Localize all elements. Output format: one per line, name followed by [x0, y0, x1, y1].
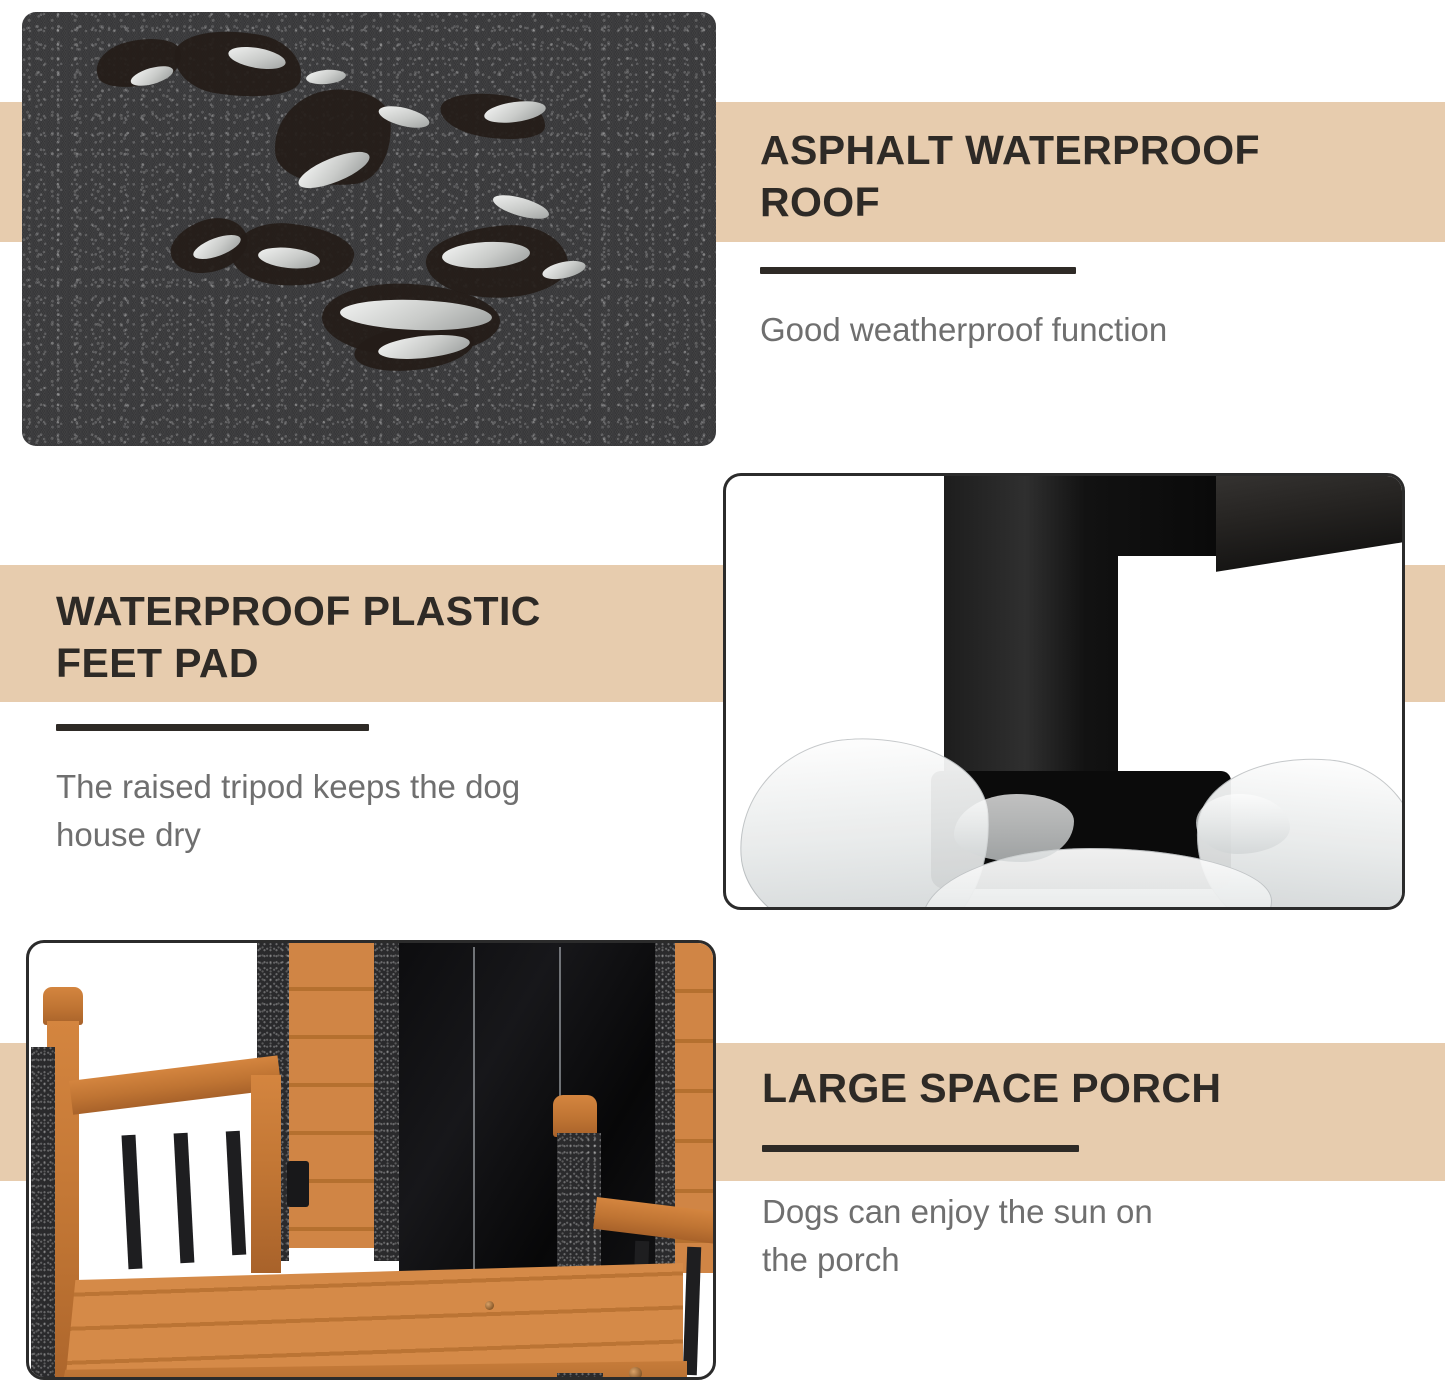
asphalt-roof-photo	[22, 12, 716, 446]
railing-side-post-left	[251, 1075, 281, 1273]
railing-top-rail-left	[69, 1055, 282, 1114]
post-notch-gap	[1118, 556, 1216, 806]
feature-body: The raised tripod keeps the dog house dr…	[56, 763, 696, 859]
feature-body: Dogs can enjoy the sun on the porch	[762, 1188, 1402, 1284]
infographic-page: ASPHALT WATERPROOF ROOF Good weatherproo…	[0, 0, 1445, 1388]
feature-text-porch: LARGE SPACE PORCH Dogs can enjoy the sun…	[762, 1062, 1402, 1284]
feature-text-feet-pad: WATERPROOF PLASTIC FEET PAD The raised t…	[56, 585, 696, 859]
railing-baluster	[683, 1247, 701, 1375]
feature-heading: WATERPROOF PLASTIC FEET PAD	[56, 585, 696, 690]
railing-baluster	[174, 1133, 195, 1264]
door-flap-seam	[473, 947, 475, 1287]
feet-pad-photo	[723, 473, 1405, 910]
door-hinge	[287, 1161, 309, 1207]
feature-heading: ASPHALT WATERPROOF ROOF	[760, 124, 1400, 229]
deck-screw	[629, 1367, 642, 1380]
feature-text-asphalt-roof: ASPHALT WATERPROOF ROOF Good weatherproo…	[760, 124, 1400, 354]
porch-photo	[26, 940, 716, 1380]
railing-post-cap-right	[553, 1095, 597, 1137]
feature-body: Good weatherproof function	[760, 306, 1400, 354]
metal-leg-sleeve	[557, 1373, 603, 1380]
railing-post-cap-left	[43, 987, 83, 1025]
metal-post-sleeve-left	[31, 1047, 55, 1380]
feature-heading: LARGE SPACE PORCH	[762, 1062, 1402, 1114]
railing-baluster	[122, 1135, 143, 1270]
deck-screw	[485, 1301, 494, 1310]
railing-baluster	[226, 1131, 246, 1256]
heading-underline	[760, 267, 1076, 274]
heading-underline	[762, 1145, 1079, 1152]
house-doorway	[399, 943, 655, 1295]
heading-underline	[56, 724, 369, 731]
